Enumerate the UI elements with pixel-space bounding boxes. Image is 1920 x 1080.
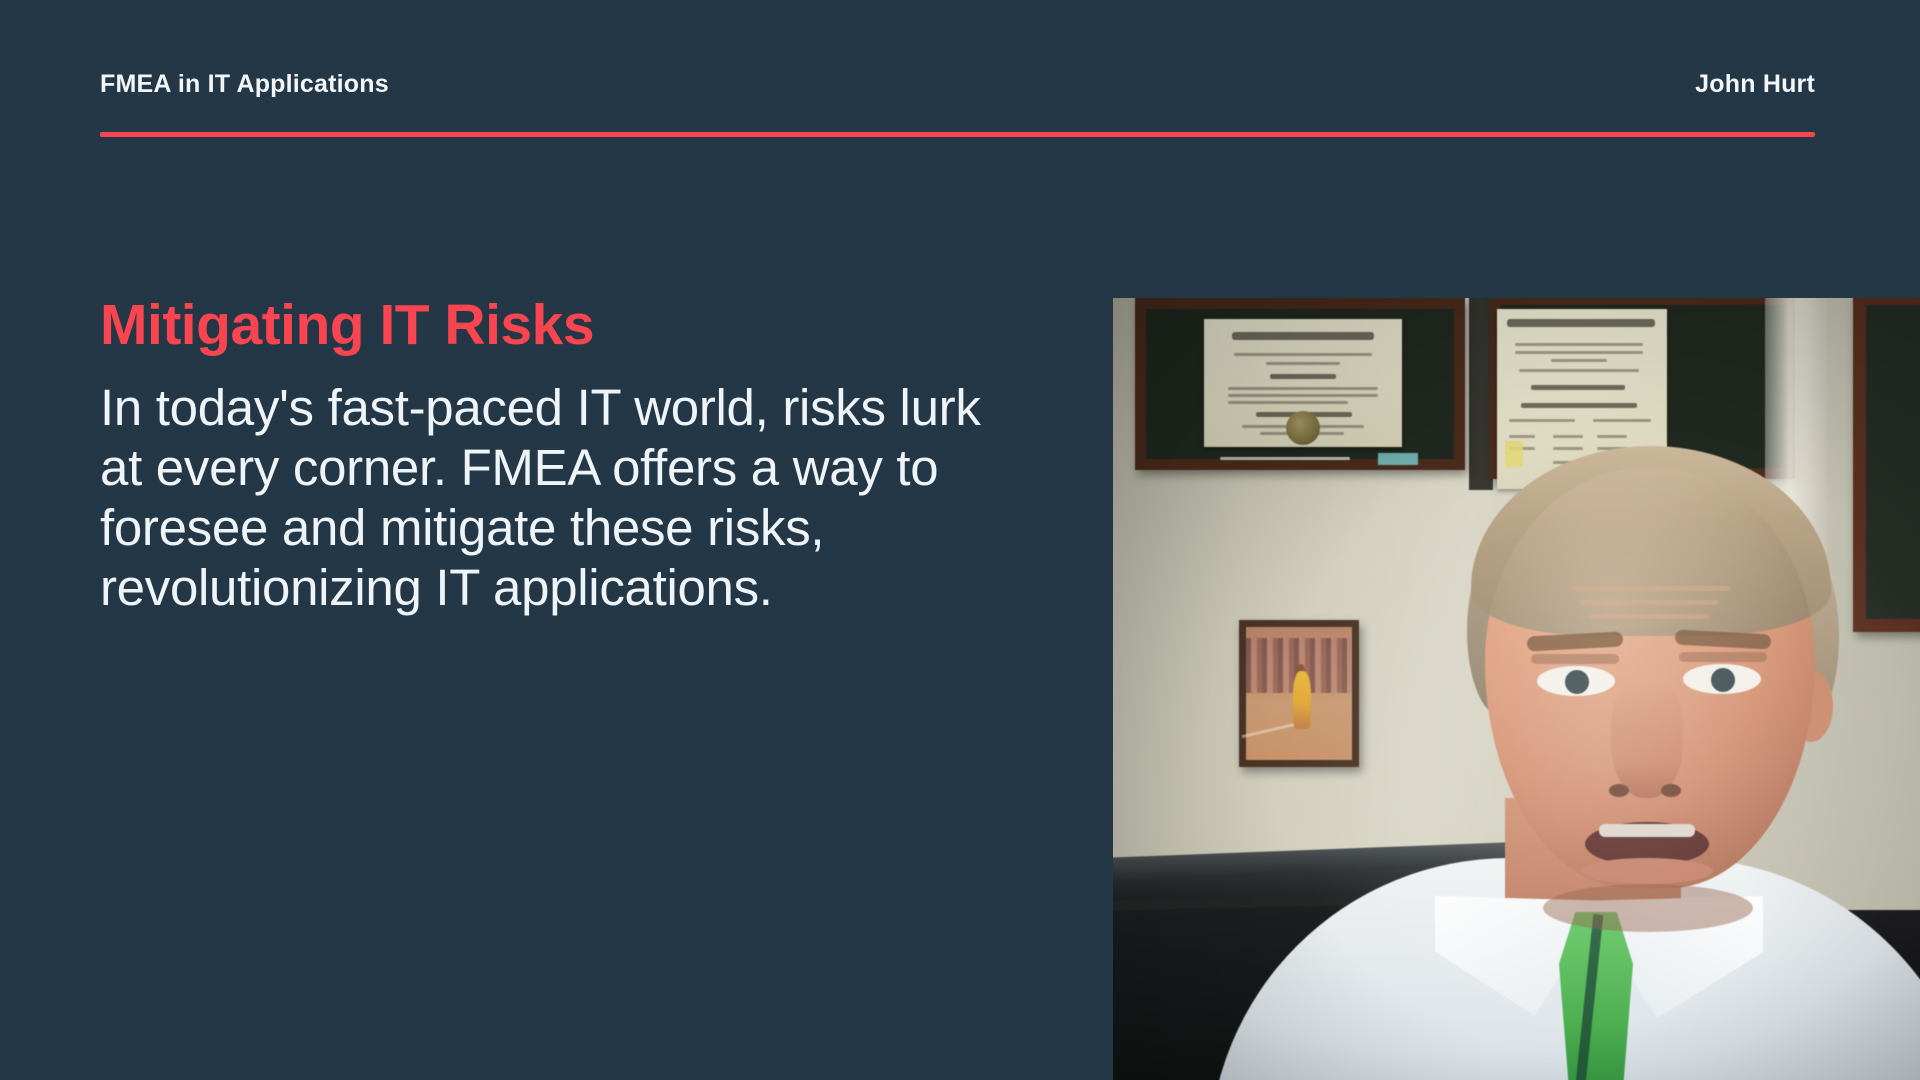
slide-content-left: Mitigating IT Risks In today's fast-pace…: [100, 296, 1005, 619]
slide-headline: Mitigating IT Risks: [100, 296, 1005, 356]
slide-body-text: In today's fast-paced IT world, risks lu…: [100, 378, 1005, 619]
slide-header: FMEA in IT Applications John Hurt: [100, 70, 1815, 140]
speaker-video-panel[interactable]: [1113, 298, 1920, 1080]
presentation-title: FMEA in IT Applications: [100, 70, 389, 99]
video-vignette: [1113, 298, 1920, 1080]
header-divider-rule: [100, 132, 1815, 137]
slide-root: FMEA in IT Applications John Hurt Mitiga…: [0, 0, 1920, 1080]
presenter-name: John Hurt: [1695, 70, 1815, 99]
header-row: FMEA in IT Applications John Hurt: [100, 70, 1815, 99]
